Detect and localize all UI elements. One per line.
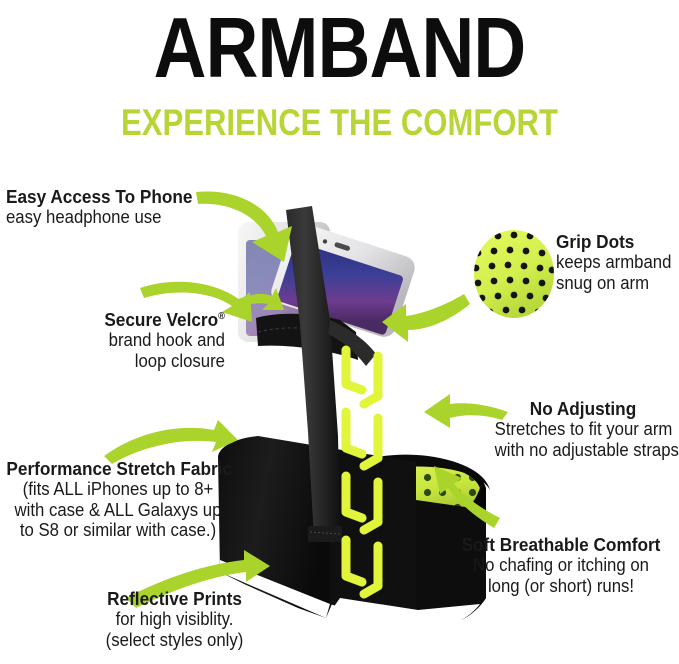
callout-grip-dots-title: Grip Dots <box>556 231 672 252</box>
callout-easy-access-line-1: easy headphone use <box>6 207 206 228</box>
callout-reflective-prints-line-2: (select styles only) <box>70 630 279 651</box>
callout-no-adjusting: No Adjusting Stretches to fit your arm w… <box>488 398 678 460</box>
callout-soft-breathable-comfort: Soft Breathable Comfort No chafing or it… <box>444 534 678 596</box>
callout-secure-velcro-line-2: loop closure <box>44 351 225 372</box>
header: ARMBAND EXPERIENCE THE COMFORT <box>0 0 679 160</box>
callout-secure-velcro-title-text: Secure Velcro <box>104 309 218 330</box>
callout-grip-dots: Grip Dots keeps armband snug on arm <box>556 231 679 293</box>
callout-secure-velcro-title: Secure Velcro® <box>44 306 225 330</box>
page-title: ARMBAND <box>48 6 632 92</box>
callout-reflective-prints-title: Reflective Prints <box>70 588 279 609</box>
callout-reflective-prints: Reflective Prints for high visiblity. (s… <box>62 588 287 650</box>
callout-easy-access: Easy Access To Phone easy headphone use <box>6 186 221 228</box>
callout-secure-velcro: Secure Velcro® brand hook and loop closu… <box>30 306 225 371</box>
callout-secure-velcro-line-1: brand hook and <box>44 330 225 351</box>
callout-no-adjusting-title: No Adjusting <box>495 398 672 419</box>
registered-trademark-symbol: ® <box>218 311 225 322</box>
callout-easy-access-title: Easy Access To Phone <box>6 186 206 207</box>
callout-reflective-prints-line-1: for high visiblity. <box>70 609 279 630</box>
brand-logo-text: Sprigs <box>259 350 294 428</box>
grip-dots-swatch <box>472 228 556 320</box>
infographic-poster: ARMBAND EXPERIENCE THE COMFORT <box>0 0 679 664</box>
callout-performance-stretch-fabric-line-2: with case & ALL Galaxys up <box>6 500 229 521</box>
callout-soft-breathable-comfort-line-1: No chafing or itching on <box>452 555 670 576</box>
brand-logo: Sprigs ® <box>259 350 294 439</box>
callout-performance-stretch-fabric: Performance Stretch Fabric (fits ALL iPh… <box>0 458 238 541</box>
callout-grip-dots-line-2: snug on arm <box>556 273 672 294</box>
callout-no-adjusting-line-1: Stretches to fit your arm <box>495 419 672 440</box>
callout-no-adjusting-line-2: with no adjustable straps <box>495 440 672 461</box>
callout-soft-breathable-comfort-title: Soft Breathable Comfort <box>452 534 670 555</box>
callout-grip-dots-line-1: keeps armband <box>556 252 672 273</box>
page-subtitle: EXPERIENCE THE COMFORT <box>54 104 624 142</box>
callout-performance-stretch-fabric-line-3: to S8 or similar with case.) <box>6 520 229 541</box>
callout-performance-stretch-fabric-title: Performance Stretch Fabric <box>6 458 229 479</box>
callout-performance-stretch-fabric-line-1: (fits ALL iPhones up to 8+ <box>6 479 229 500</box>
callout-soft-breathable-comfort-line-2: long (or short) runs! <box>452 576 670 597</box>
brand-logo-registered: ® <box>274 432 284 439</box>
